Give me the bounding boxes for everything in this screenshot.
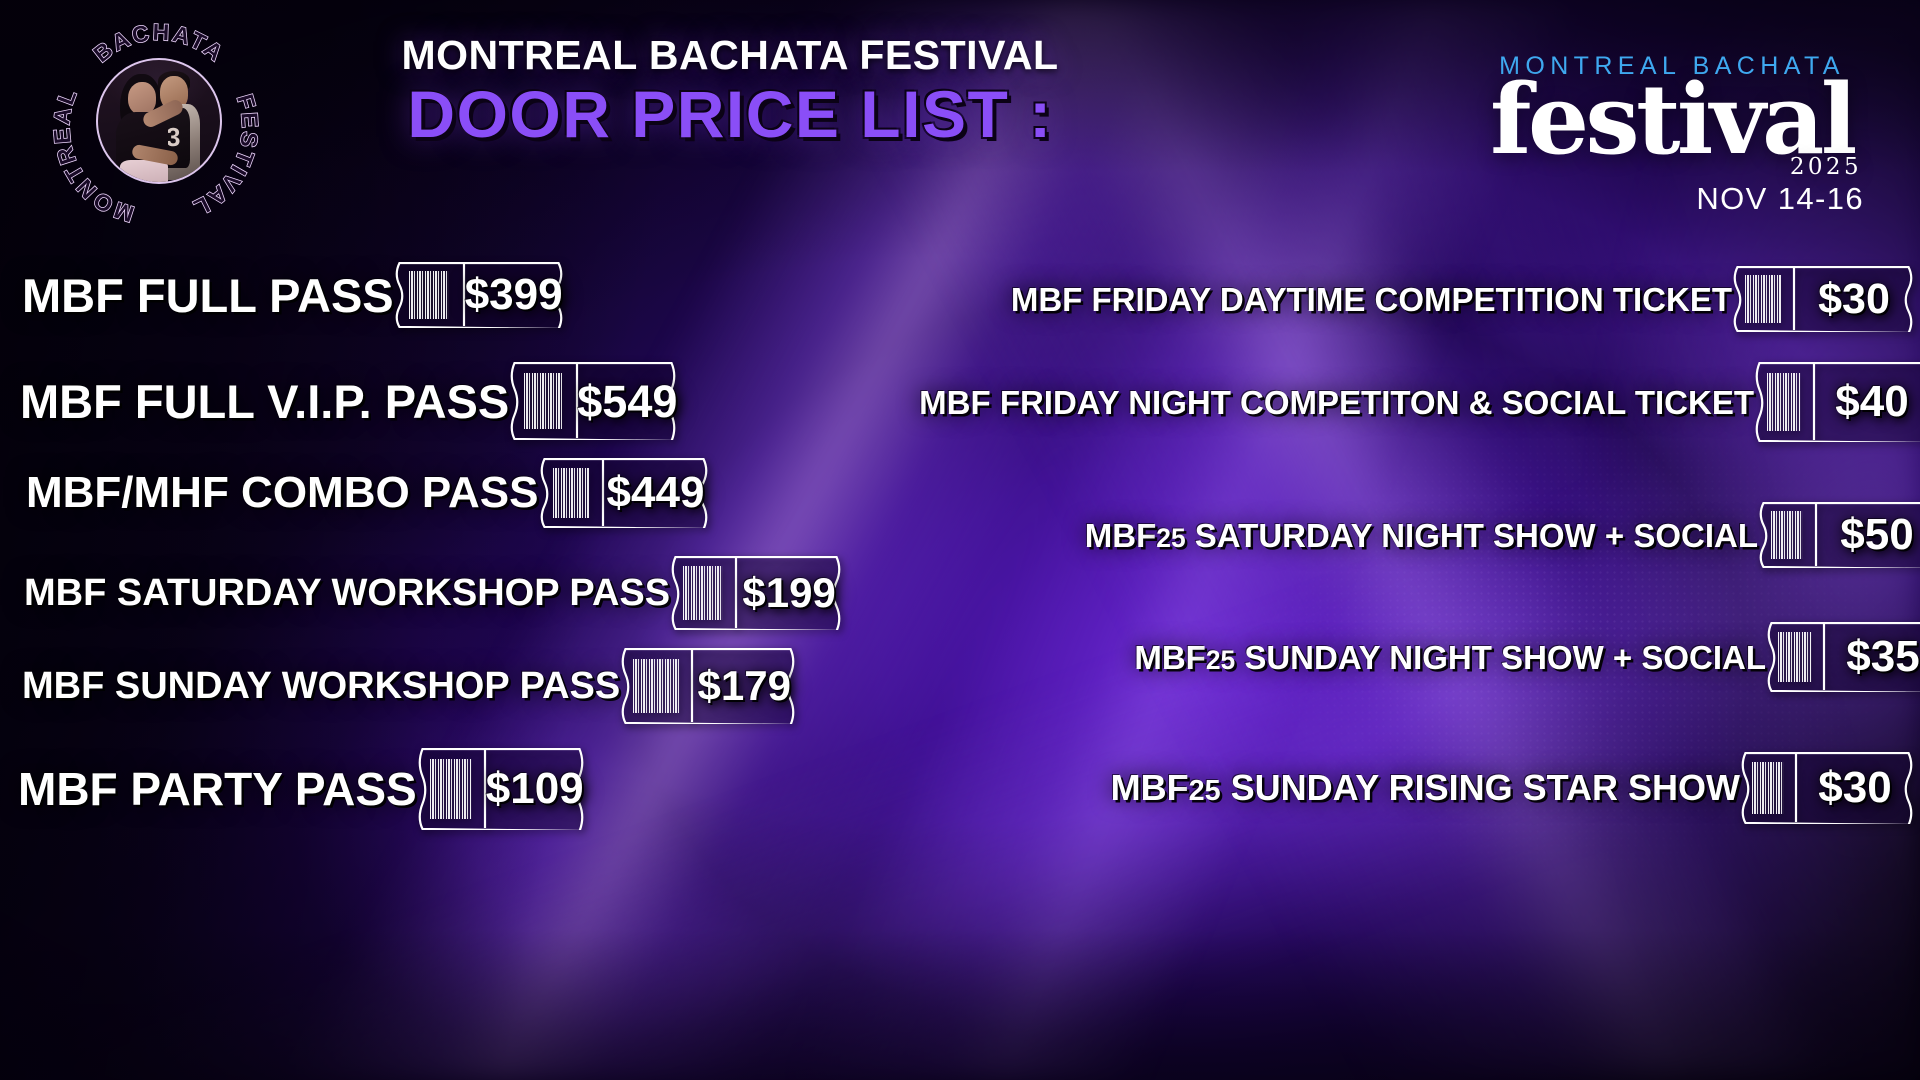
ticket-barcode <box>683 566 723 619</box>
ticket-stub: $109 <box>417 748 585 830</box>
price-row: MBF FRIDAY NIGHT COMPETITON & SOCIAL TIC… <box>919 362 1920 442</box>
ticket-price: $549 <box>577 379 677 424</box>
price-row-label: MBF25 SUNDAY RISING STAR SHOW <box>1111 770 1740 806</box>
ticket-price: $399 <box>464 273 564 317</box>
ticket-stub: $50 <box>1758 502 1920 568</box>
ticket-stub: $179 <box>620 648 796 724</box>
ticket-price: $449 <box>603 471 709 515</box>
label-rest: SUNDAY RISING STAR SHOW <box>1221 767 1740 808</box>
ticket-stub: $399 <box>394 262 564 328</box>
price-row: MBF25 SUNDAY NIGHT SHOW + SOCIAL$35 <box>1134 622 1920 692</box>
price-row-label: MBF/MHF COMBO PASS <box>26 471 539 515</box>
label-year-suffix: 25 <box>1189 775 1221 807</box>
label-rest: SUNDAY NIGHT SHOW + SOCIAL <box>1235 639 1766 676</box>
price-row: MBF FULL V.I.P. PASS$549 <box>20 362 677 440</box>
ticket-price: $40 <box>1814 380 1920 424</box>
label-prefix: MBF <box>1085 517 1156 554</box>
ticket-stub: $449 <box>539 458 709 528</box>
price-row: MBF25 SUNDAY RISING STAR SHOW$30 <box>1111 752 1914 824</box>
price-row-label: MBF25 SATURDAY NIGHT SHOW + SOCIAL <box>1085 519 1758 552</box>
ticket-barcode <box>524 373 562 429</box>
ticket-barcode <box>409 271 449 319</box>
price-row: MBF SATURDAY WORKSHOP PASS$199 <box>24 556 842 630</box>
ticket-price: $109 <box>485 767 585 811</box>
price-row: MBF FRIDAY DAYTIME COMPETITION TICKET$30 <box>1011 266 1914 332</box>
label-year-suffix: 25 <box>1206 645 1235 675</box>
price-row-label: MBF SATURDAY WORKSHOP PASS <box>24 574 670 612</box>
price-row: MBF SUNDAY WORKSHOP PASS$179 <box>22 648 796 724</box>
price-row-label: MBF25 SUNDAY NIGHT SHOW + SOCIAL <box>1134 641 1766 674</box>
ticket-price: $199 <box>736 572 842 614</box>
ticket-barcode <box>1767 373 1801 431</box>
ticket-barcode <box>430 759 472 818</box>
poster-canvas: BACHATA FESTIVAL MONTREAL 3 <box>0 0 1920 1080</box>
label-prefix: MBF <box>1111 767 1189 808</box>
ticket-barcode <box>1752 762 1784 814</box>
price-row-label: MBF FRIDAY DAYTIME COMPETITION TICKET <box>1011 283 1732 316</box>
ticket-stub: $549 <box>509 362 677 440</box>
ticket-barcode <box>633 659 679 714</box>
ticket-price: $30 <box>1796 766 1914 810</box>
ticket-price: $35 <box>1824 635 1920 679</box>
label-rest: SATURDAY NIGHT SHOW + SOCIAL <box>1186 517 1758 554</box>
price-row-label: MBF FULL V.I.P. PASS <box>20 378 509 425</box>
price-row: MBF PARTY PASS$109 <box>18 748 585 830</box>
ticket-barcode <box>1771 511 1803 559</box>
ticket-stub: $40 <box>1754 362 1920 442</box>
ticket-price: $179 <box>692 665 796 707</box>
ticket-stub: $199 <box>670 556 842 630</box>
price-row: MBF25 SATURDAY NIGHT SHOW + SOCIAL$50 <box>1085 502 1920 568</box>
label-year-suffix: 25 <box>1156 523 1185 553</box>
price-row-label: MBF FRIDAY NIGHT COMPETITON & SOCIAL TIC… <box>919 386 1754 419</box>
ticket-stub: $35 <box>1766 622 1920 692</box>
price-row: MBF FULL PASS$399 <box>22 262 564 328</box>
price-row-label: MBF SUNDAY WORKSHOP PASS <box>22 667 620 705</box>
ticket-price: $30 <box>1794 278 1914 321</box>
price-row: MBF/MHF COMBO PASS$449 <box>26 458 709 528</box>
ticket-barcode <box>1745 275 1781 323</box>
ticket-stub: $30 <box>1732 266 1914 332</box>
price-row-label: MBF FULL PASS <box>22 272 394 319</box>
ticket-barcode <box>553 468 589 518</box>
ticket-barcode <box>1778 632 1812 682</box>
price-row-label: MBF PARTY PASS <box>18 766 417 812</box>
label-prefix: MBF <box>1134 639 1205 676</box>
ticket-price: $50 <box>1816 513 1920 557</box>
price-list-rows: MBF FULL PASS$399MBF FULL V.I.P. PASS$54… <box>0 0 1920 1080</box>
ticket-stub: $30 <box>1740 752 1914 824</box>
